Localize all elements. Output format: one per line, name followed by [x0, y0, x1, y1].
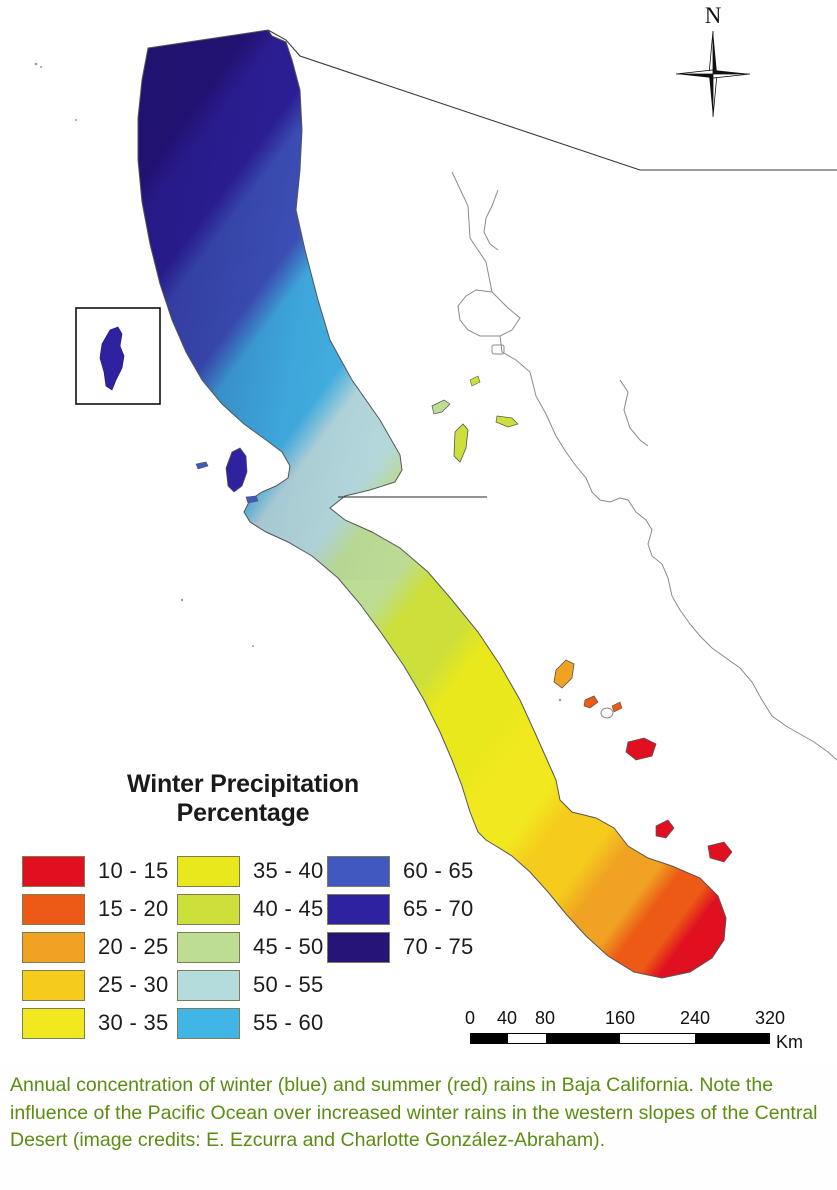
- legend-label-60-65: 60 - 65: [403, 858, 474, 884]
- legend-item[interactable]: 45 - 50: [163, 928, 313, 966]
- scale-tick-80: 80: [535, 1008, 555, 1029]
- legend-item[interactable]: 40 - 45: [163, 890, 313, 928]
- legend-swatch-15-20: [22, 894, 85, 925]
- scale-tick-160: 160: [605, 1008, 635, 1029]
- legend-title-line-1: Winter Precipitation: [8, 770, 478, 799]
- scale-bar-graphic: [470, 1033, 770, 1044]
- legend-swatch-60-65: [327, 856, 390, 887]
- figure-caption: Annual concentration of winter (blue) an…: [10, 1072, 830, 1155]
- legend-swatch-45-50: [177, 932, 240, 963]
- legend-label-25-30: 25 - 30: [98, 972, 169, 998]
- legend-item[interactable]: 55 - 60: [163, 1004, 313, 1042]
- legend-item[interactable]: 15 - 20: [8, 890, 163, 928]
- scale-segment-4: [695, 1034, 770, 1043]
- scale-segment-1: [508, 1034, 546, 1043]
- scale-tick-labels: 04080160240320: [470, 1008, 800, 1032]
- legend-item[interactable]: 35 - 40: [163, 852, 313, 890]
- legend-item[interactable]: 20 - 25: [8, 928, 163, 966]
- scale-unit-label: Km: [776, 1032, 803, 1053]
- scale-tick-40: 40: [497, 1008, 517, 1029]
- legend-label-10-15: 10 - 15: [98, 858, 169, 884]
- legend-label-65-70: 65 - 70: [403, 896, 474, 922]
- compass-star-icon: [675, 29, 751, 119]
- scale-segment-2: [546, 1034, 621, 1043]
- legend-swatch-40-45: [177, 894, 240, 925]
- legend-swatch-65-70: [327, 894, 390, 925]
- map-figure: N Winter Precipitation Percentage: [0, 0, 837, 1190]
- legend-item[interactable]: 50 - 55: [163, 966, 313, 1004]
- legend-swatch-25-30: [22, 970, 85, 1001]
- legend-swatch-30-35: [22, 1008, 85, 1039]
- legend-swatch-50-55: [177, 970, 240, 1001]
- scale-tick-240: 240: [680, 1008, 710, 1029]
- legend-label-70-75: 70 - 75: [403, 934, 474, 960]
- legend-label-15-20: 15 - 20: [98, 896, 169, 922]
- legend-item[interactable]: 65 - 70: [313, 890, 473, 928]
- compass-rose: N: [668, 4, 758, 119]
- legend-title: Winter Precipitation Percentage: [8, 770, 478, 828]
- legend-item[interactable]: 30 - 35: [8, 1004, 163, 1042]
- legend-item[interactable]: 25 - 30: [8, 966, 163, 1004]
- legend-title-line-2: Percentage: [8, 799, 478, 828]
- compass-north-label: N: [668, 4, 758, 27]
- scale-segment-0: [471, 1034, 508, 1043]
- scale-segment-3: [620, 1034, 695, 1043]
- legend-item[interactable]: 70 - 75: [313, 928, 473, 966]
- legend-column-3: 60 - 65 65 - 70 70 - 75: [313, 852, 473, 1042]
- legend-swatch-20-25: [22, 932, 85, 963]
- scale-tick-320: 320: [755, 1008, 785, 1029]
- legend-swatch-10-15: [22, 856, 85, 887]
- legend-label-20-25: 20 - 25: [98, 934, 169, 960]
- legend-column-1: 10 - 15 15 - 20 20 - 25 25 - 30 30 - 35: [8, 852, 163, 1042]
- legend: Winter Precipitation Percentage 10 - 15 …: [8, 770, 488, 1055]
- legend-columns: 10 - 15 15 - 20 20 - 25 25 - 30 30 - 35: [8, 852, 488, 1042]
- legend-swatch-35-40: [177, 856, 240, 887]
- legend-label-30-35: 30 - 35: [98, 1010, 169, 1036]
- legend-swatch-70-75: [327, 932, 390, 963]
- guadalupe-island-inset[interactable]: [76, 308, 160, 404]
- scale-tick-0: 0: [465, 1008, 475, 1029]
- legend-item[interactable]: 10 - 15: [8, 852, 163, 890]
- legend-column-2: 35 - 40 40 - 45 45 - 50 50 - 55 55 - 60: [163, 852, 313, 1042]
- legend-item[interactable]: 60 - 65: [313, 852, 473, 890]
- scale-bar: 04080160240320 Km: [470, 1008, 800, 1056]
- legend-swatch-55-60: [177, 1008, 240, 1039]
